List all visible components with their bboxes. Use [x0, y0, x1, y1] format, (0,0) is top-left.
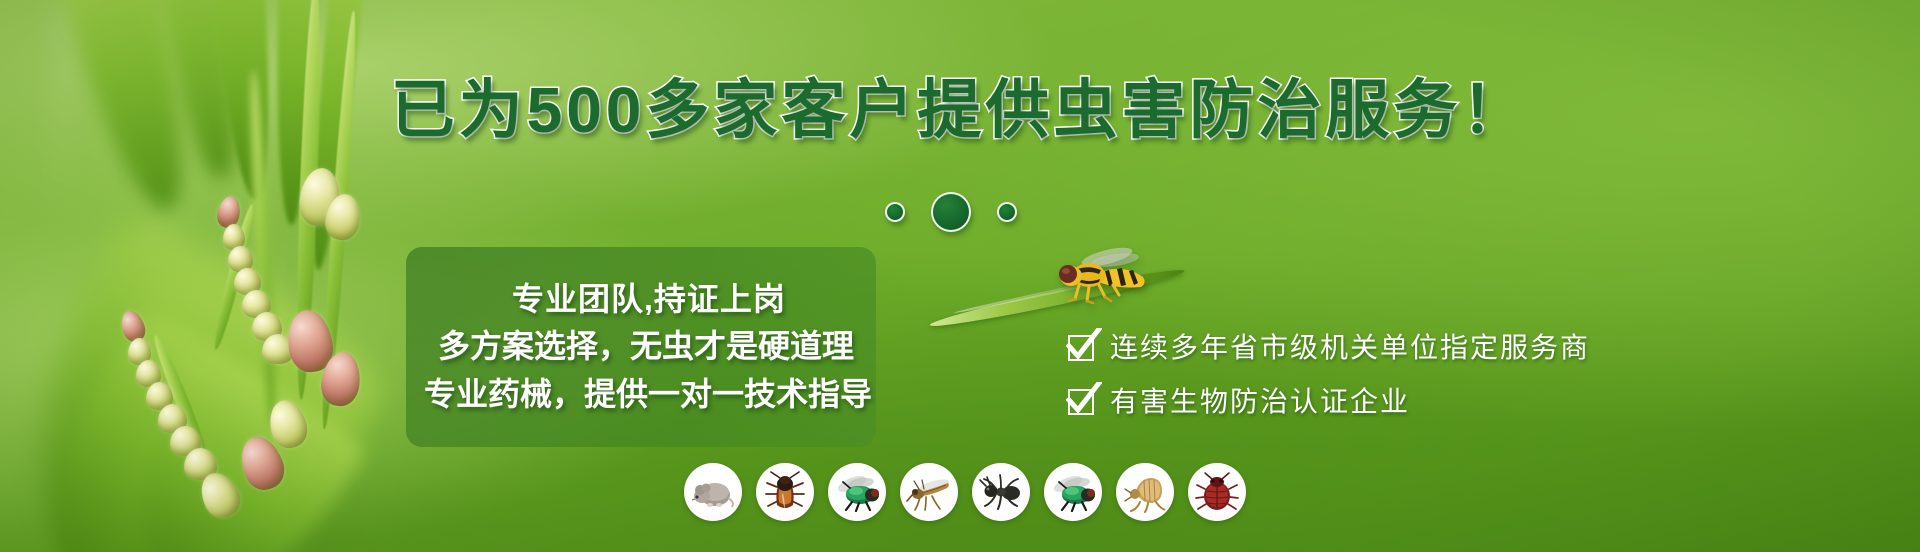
page-title: 已为500多家客户提供虫害防治服务！ — [0, 78, 1920, 142]
feature-line-3: 专业药械，提供一对一技术指导 — [414, 378, 906, 412]
pest-control-banner: 已为500多家客户提供虫害防治服务！ 专业团队,持证上岗 多方案选择，无虫才是硬… — [0, 0, 1920, 552]
checklist-item-label: 连续多年省市级机关单位指定服务商 — [1110, 334, 1590, 362]
flea-icon[interactable] — [1116, 463, 1174, 521]
checklist-item: 连续多年省市级机关单位指定服务商 — [1068, 334, 1590, 362]
blowfly-icon-2[interactable] — [1044, 463, 1102, 521]
dot-small-right — [997, 202, 1017, 222]
feature-line-2: 多方案选择，无虫才是硬道理 — [414, 330, 906, 364]
bedbug-icon[interactable] — [1188, 463, 1246, 521]
credentials-checklist: 连续多年省市级机关单位指定服务商 有害生物防治认证企业 — [1068, 334, 1590, 416]
feature-line-1: 专业团队,持证上岗 — [414, 283, 906, 317]
check-mark-icon — [1068, 389, 1094, 415]
mouse-icon[interactable] — [684, 463, 742, 521]
checklist-item-label: 有害生物防治认证企业 — [1110, 388, 1410, 416]
dot-small-left — [885, 202, 905, 222]
cockroach-icon[interactable] — [756, 463, 814, 521]
pest-type-icons — [684, 463, 1246, 521]
hoverfly-illustration — [1045, 243, 1165, 305]
check-mark-icon — [1068, 335, 1094, 361]
mosquito-icon[interactable] — [900, 463, 958, 521]
dot-large-center — [931, 192, 971, 232]
decorative-dots — [885, 192, 1017, 232]
blowfly-icon[interactable] — [828, 463, 886, 521]
ant-icon[interactable] — [972, 463, 1030, 521]
feature-panel-lines: 专业团队,持证上岗 多方案选择，无虫才是硬道理 专业药械，提供一对一技术指导 — [406, 247, 906, 447]
checklist-item: 有害生物防治认证企业 — [1068, 388, 1590, 416]
